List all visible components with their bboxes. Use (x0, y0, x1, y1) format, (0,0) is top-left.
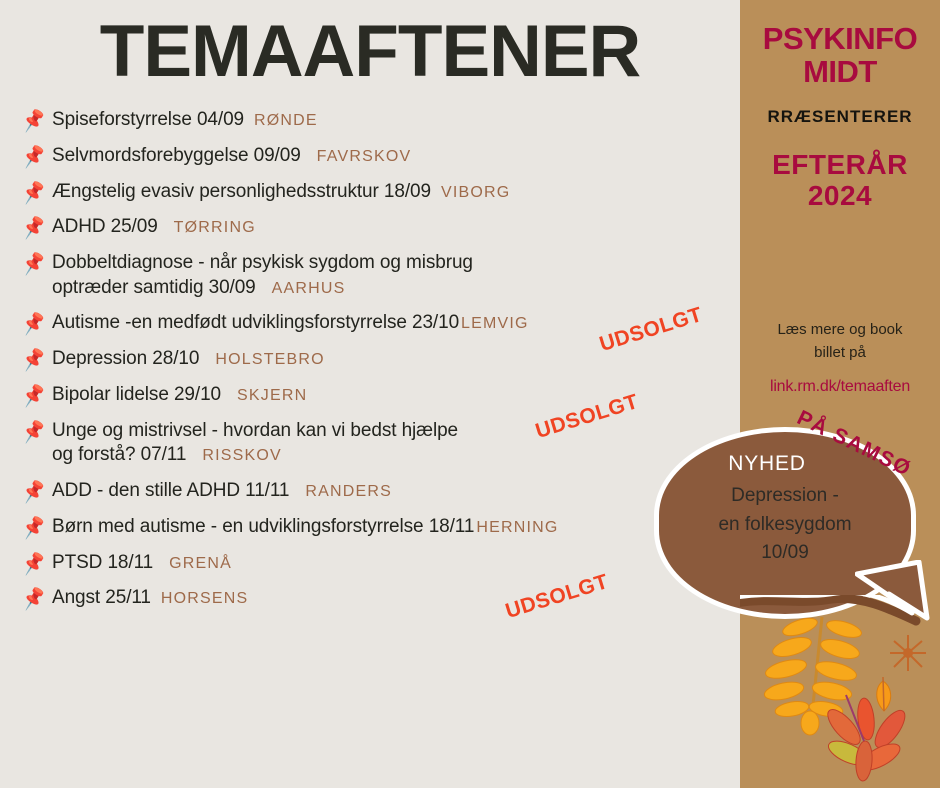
event-city: RANDERS (305, 483, 392, 500)
event-city: TØRRING (174, 219, 256, 236)
page-title: TEMAAFTENER (0, 10, 740, 93)
event-title: Autisme -en medfødt udviklingsforstyrrel… (52, 312, 459, 333)
pushpin-icon: 📌 (20, 309, 54, 339)
pushpin-icon: 📌 (20, 476, 54, 506)
pushpin-icon: 📌 (20, 548, 54, 578)
list-item[interactable]: 📌 Ængstelig evasiv personlighedsstruktur… (22, 180, 742, 205)
event-city: VIBORG (441, 184, 510, 201)
poster-canvas: TEMAAFTENER 📌 Spiseforstyrrelse 04/09RØN… (0, 0, 940, 788)
pushpin-icon: 📌 (20, 177, 54, 207)
event-city: AARHUS (272, 280, 346, 297)
event-city: GRENÅ (169, 555, 232, 572)
event-body: ADHD 25/09TØRRING (52, 215, 742, 240)
brand-line-2: MIDT (740, 55, 940, 88)
event-city: HORSENS (161, 590, 249, 607)
pushpin-icon: 📌 (20, 416, 54, 446)
list-item[interactable]: 📌 Børn med autisme - en udviklingsforsty… (22, 515, 742, 540)
list-item[interactable]: 📌 ADHD 25/09TØRRING (22, 215, 742, 240)
bubble-text-block: NYHED Depression - en folkesygdom 10/09 (660, 452, 910, 568)
list-item[interactable]: 📌 ADD - den stille ADHD 11/11RANDERS (22, 479, 742, 504)
list-item[interactable]: 📌 Depression 28/10HOLSTEBRO (22, 347, 742, 372)
event-city: HOLSTEBRO (215, 351, 325, 368)
event-list: 📌 Spiseforstyrrelse 04/09RØNDE 📌 Selvmor… (22, 108, 742, 622)
season-line-2: 2024 (740, 180, 940, 211)
event-title: Børn med autisme - en udviklingsforstyrr… (52, 516, 474, 537)
event-title: Spiseforstyrrelse 04/09 (52, 109, 244, 130)
event-body: Selvmordsforebyggelse 09/09FAVRSKOV (52, 144, 742, 169)
event-body: Dobbeltdiagnose - når psykisk sygdom og … (52, 251, 742, 300)
list-item[interactable]: 📌 PTSD 18/11GRENÅ (22, 551, 742, 576)
booking-instructions: Læs mere og book billet på (740, 318, 940, 365)
list-item[interactable]: 📌 Unge og mistrivsel - hvordan kan vi be… (22, 419, 742, 468)
event-city: LEMVIG (461, 315, 529, 332)
pushpin-icon: 📌 (20, 141, 54, 171)
booking-link[interactable]: link.rm.dk/temaaften (740, 378, 940, 396)
event-title: Depression 28/10 (52, 348, 199, 369)
presents-label: RRÆSENTERER (740, 107, 940, 127)
pushpin-icon: 📌 (20, 212, 54, 242)
event-body: Unge og mistrivsel - hvordan kan vi beds… (52, 419, 742, 468)
list-item[interactable]: 📌 Angst 25/11HORSENS (22, 586, 742, 611)
event-body: Depression 28/10HOLSTEBRO (52, 347, 742, 372)
pushpin-icon: 📌 (20, 380, 54, 410)
event-title: Bipolar lidelse 29/10 (52, 384, 221, 405)
event-title: Ængstelig evasiv personlighedsstruktur 1… (52, 181, 431, 202)
brand-line-1: PSYKINFO (740, 22, 940, 55)
season-line-1: EFTERÅR (740, 149, 940, 180)
event-body: Ængstelig evasiv personlighedsstruktur 1… (52, 180, 742, 205)
list-item[interactable]: 📌 Selvmordsforebyggelse 09/09FAVRSKOV (22, 144, 742, 169)
event-city: RØNDE (254, 112, 318, 129)
event-city: FAVRSKOV (317, 148, 412, 165)
event-body: Børn med autisme - en udviklingsforstyrr… (52, 515, 742, 540)
bubble-event-details: Depression - en folkesygdom 10/09 (660, 482, 910, 568)
pushpin-icon: 📌 (20, 105, 54, 135)
event-city: SKJERN (237, 387, 307, 404)
event-body: Spiseforstyrrelse 04/09RØNDE (52, 108, 742, 133)
pushpin-icon: 📌 (20, 512, 54, 542)
event-city: RISSKOV (202, 447, 282, 464)
event-title: PTSD 18/11 (52, 552, 153, 573)
event-title: Dobbeltdiagnose - når psykisk sygdom og … (52, 252, 473, 298)
event-body: Angst 25/11HORSENS (52, 586, 742, 611)
list-item[interactable]: 📌 Spiseforstyrrelse 04/09RØNDE (22, 108, 742, 133)
event-title: Selvmordsforebyggelse 09/09 (52, 145, 301, 166)
event-body: PTSD 18/11GRENÅ (52, 551, 742, 576)
pushpin-icon: 📌 (20, 248, 54, 278)
event-title: Angst 25/11 (52, 587, 151, 608)
autumn-leaves-illustration (740, 595, 940, 788)
event-city: HERNING (476, 519, 558, 536)
event-title: ADHD 25/09 (52, 216, 158, 237)
list-item[interactable]: 📌 Dobbeltdiagnose - når psykisk sygdom o… (22, 251, 742, 300)
news-badge: NYHED (660, 452, 874, 476)
brand-name: PSYKINFO MIDT (740, 22, 940, 89)
pushpin-icon: 📌 (20, 344, 54, 374)
event-title: ADD - den stille ADHD 11/11 (52, 480, 289, 501)
event-body: ADD - den stille ADHD 11/11RANDERS (52, 479, 742, 504)
pushpin-icon: 📌 (20, 583, 54, 613)
season-heading: EFTERÅR 2024 (740, 149, 940, 212)
